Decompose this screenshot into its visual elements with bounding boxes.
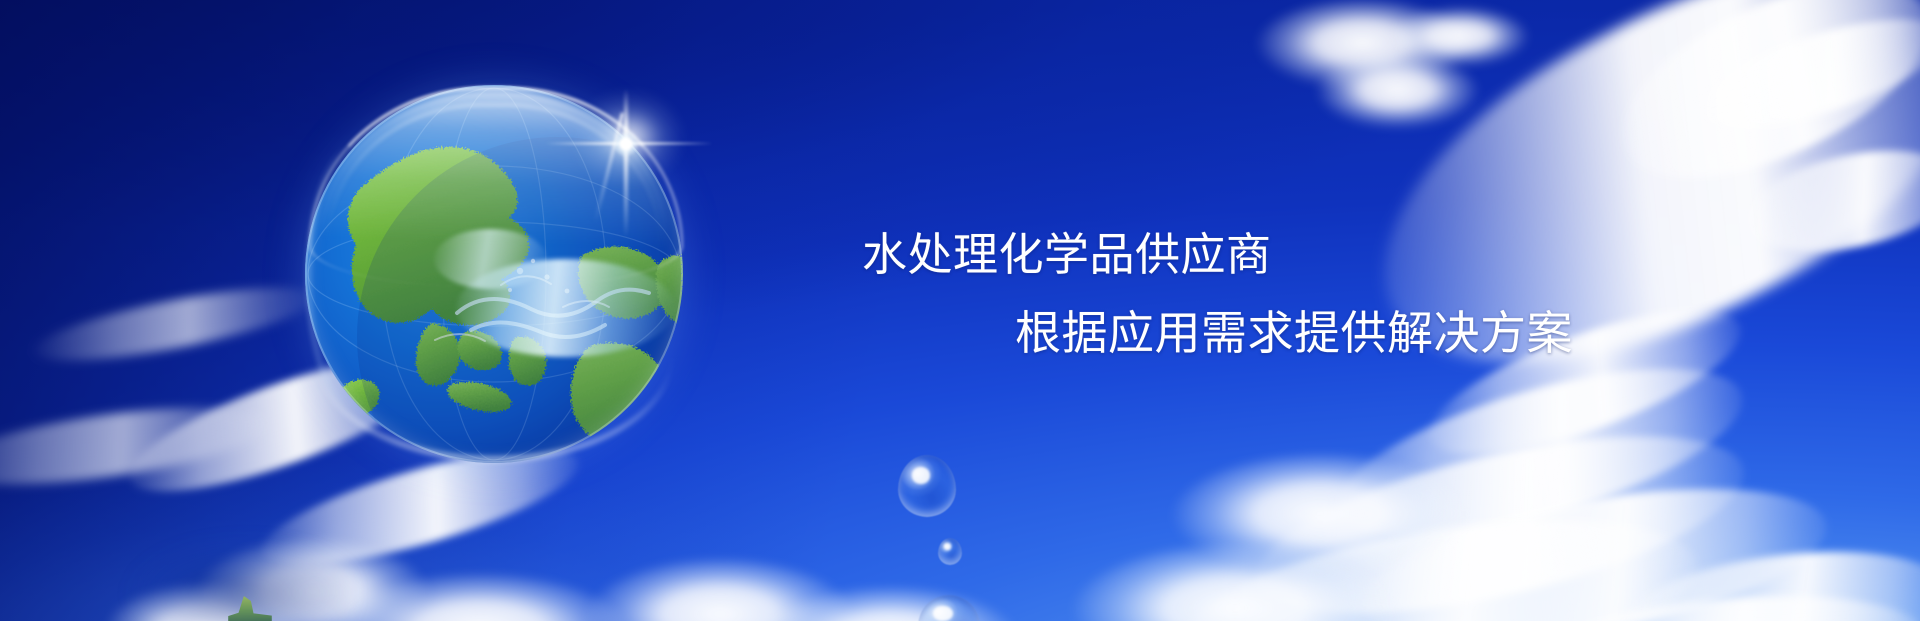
water-droplet-medium	[918, 595, 980, 621]
droplet-specular	[933, 606, 953, 621]
droplet-body	[938, 538, 962, 565]
droplet-specular	[912, 467, 931, 483]
droplet-body	[898, 455, 956, 517]
water-droplet-small	[938, 538, 962, 565]
headline-line-2: 根据应用需求提供解决方案	[1015, 310, 1602, 356]
hero-banner: 水处理化学品供应商 根据应用需求提供解决方案	[0, 0, 1920, 621]
water-droplet-large	[898, 455, 956, 517]
banner-headline: 水处理化学品供应商 根据应用需求提供解决方案	[862, 232, 1602, 356]
headline-line-1: 水处理化学品供应商	[862, 232, 1602, 277]
horizon-haze	[120, 520, 350, 621]
globe-illustration	[305, 85, 683, 463]
